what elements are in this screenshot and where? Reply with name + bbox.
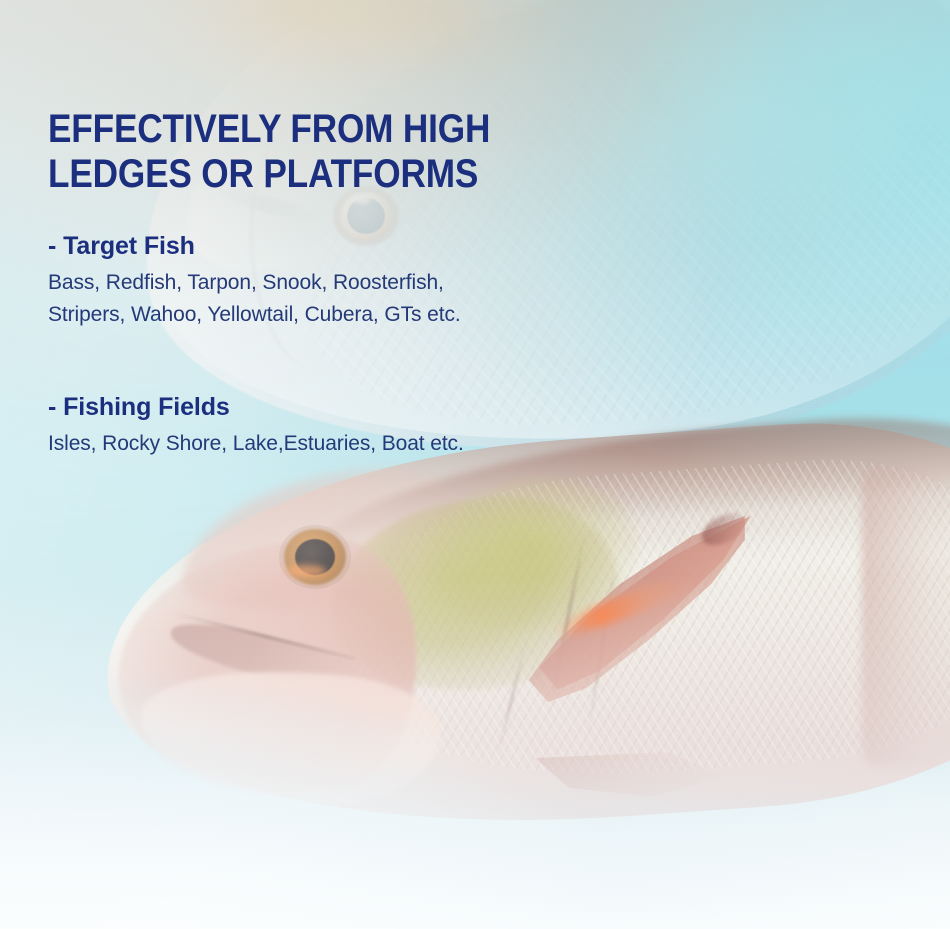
section-body-fishing-fields: Isles, Rocky Shore, Lake,Estuaries, Boat… xyxy=(48,428,688,460)
section-title-target-fish: - Target Fish xyxy=(48,232,688,261)
product-banner: EFFECTIVELY FROM HIGH LEDGES OR PLATFORM… xyxy=(0,0,950,929)
section-target-fish: - Target Fish Bass, Redfish, Tarpon, Sno… xyxy=(48,232,688,331)
section-title-fishing-fields: - Fishing Fields xyxy=(48,393,688,422)
headline-line-2: LEDGES OR PLATFORMS xyxy=(48,152,594,197)
section-fishing-fields: - Fishing Fields Isles, Rocky Shore, Lak… xyxy=(48,393,688,460)
fishing-fields-line-1: Isles, Rocky Shore, Lake,Estuaries, Boat… xyxy=(48,428,688,460)
text-overlay: EFFECTIVELY FROM HIGH LEDGES OR PLATFORM… xyxy=(0,0,950,929)
section-body-target-fish: Bass, Redfish, Tarpon, Snook, Roosterfis… xyxy=(48,267,688,331)
target-fish-line-1: Bass, Redfish, Tarpon, Snook, Roosterfis… xyxy=(48,267,688,299)
page-title: EFFECTIVELY FROM HIGH LEDGES OR PLATFORM… xyxy=(48,107,594,197)
headline-line-1: EFFECTIVELY FROM HIGH xyxy=(48,107,490,151)
target-fish-line-2: Stripers, Wahoo, Yellowtail, Cubera, GTs… xyxy=(48,299,688,331)
